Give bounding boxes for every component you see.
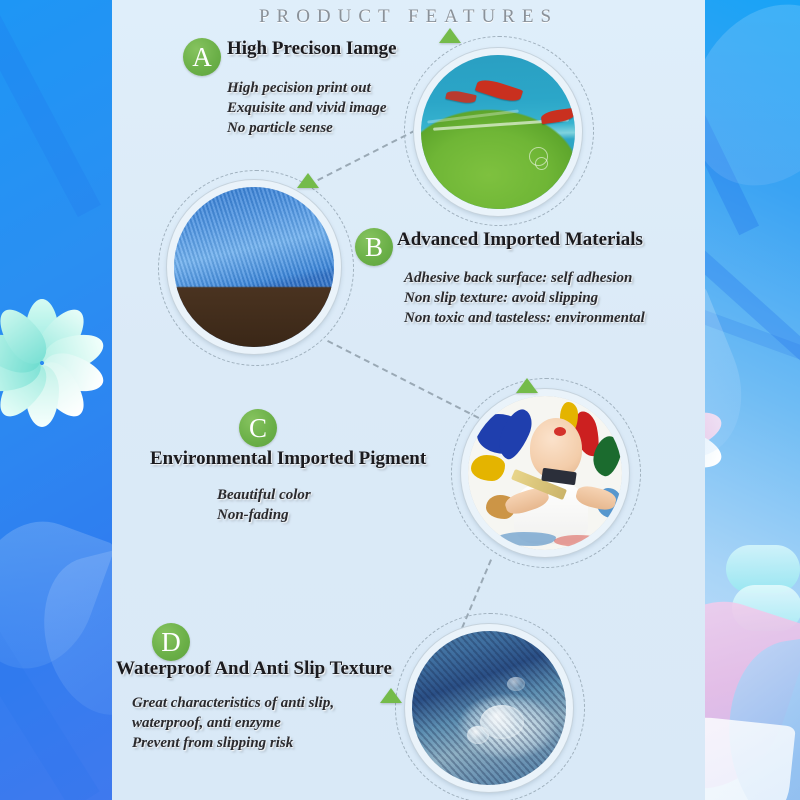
arrow-to-feature-a xyxy=(439,28,461,43)
infographic-canvas: PRODUCT FEATURES A High Precison Iamge H… xyxy=(0,0,800,800)
feature-badge-b: B xyxy=(355,228,393,266)
printed-fish-mat-photo xyxy=(421,55,575,209)
stripe xyxy=(0,0,101,217)
feature-badge-a: A xyxy=(183,38,221,76)
bullet-line: Great characteristics of anti slip, xyxy=(132,693,334,713)
feature-bullets-a: High pecision print out Exquisite and vi… xyxy=(227,78,387,138)
arrow-to-feature-c xyxy=(516,378,538,393)
bullet-line: Non toxic and tasteless: environmental xyxy=(404,308,645,328)
feature-badge-c: C xyxy=(239,409,277,447)
bullet-line: Non slip texture: avoid slipping xyxy=(404,288,645,308)
feature-heading-a: High Precison Iamge xyxy=(227,38,397,60)
feature-heading-d: Waterproof And Anti Slip Texture xyxy=(116,658,392,680)
feature-bullets-b: Adhesive back surface: self adhesion Non… xyxy=(404,268,645,328)
bullet-line: No particle sense xyxy=(227,118,387,138)
bullet-line: Adhesive back surface: self adhesion xyxy=(404,268,645,288)
bullet-line: Prevent from slipping risk xyxy=(132,733,334,753)
bullet-line: Beautiful color xyxy=(217,485,311,505)
feature-heading-c: Environmental Imported Pigment xyxy=(150,448,426,470)
bullet-line: Non-fading xyxy=(217,505,311,525)
feature-heading-b: Advanced Imported Materials xyxy=(397,229,643,251)
feature-bullets-c: Beautiful color Non-fading xyxy=(217,485,311,525)
feature-image-b xyxy=(167,180,341,354)
left-decorative-band xyxy=(0,0,115,800)
arrow-to-feature-d xyxy=(380,688,402,703)
painted-baby-photo xyxy=(468,396,622,550)
content-panel: PRODUCT FEATURES A High Precison Iamge H… xyxy=(112,0,705,800)
feature-bullets-d: Great characteristics of anti slip, wate… xyxy=(132,693,334,753)
waterproof-texture-photo xyxy=(412,631,566,785)
connector-b-to-c xyxy=(327,340,488,424)
feature-image-d xyxy=(405,624,573,792)
feature-image-c xyxy=(461,389,629,557)
feature-badge-d: D xyxy=(152,623,190,661)
blue-woven-fabric-photo xyxy=(174,187,334,347)
bullet-line: waterproof, anti enzyme xyxy=(132,713,334,733)
page-title: PRODUCT FEATURES xyxy=(112,6,705,28)
bullet-line: Exquisite and vivid image xyxy=(227,98,387,118)
feature-image-a xyxy=(414,48,582,216)
arrow-to-feature-b xyxy=(297,173,319,188)
bullet-line: High pecision print out xyxy=(227,78,387,98)
